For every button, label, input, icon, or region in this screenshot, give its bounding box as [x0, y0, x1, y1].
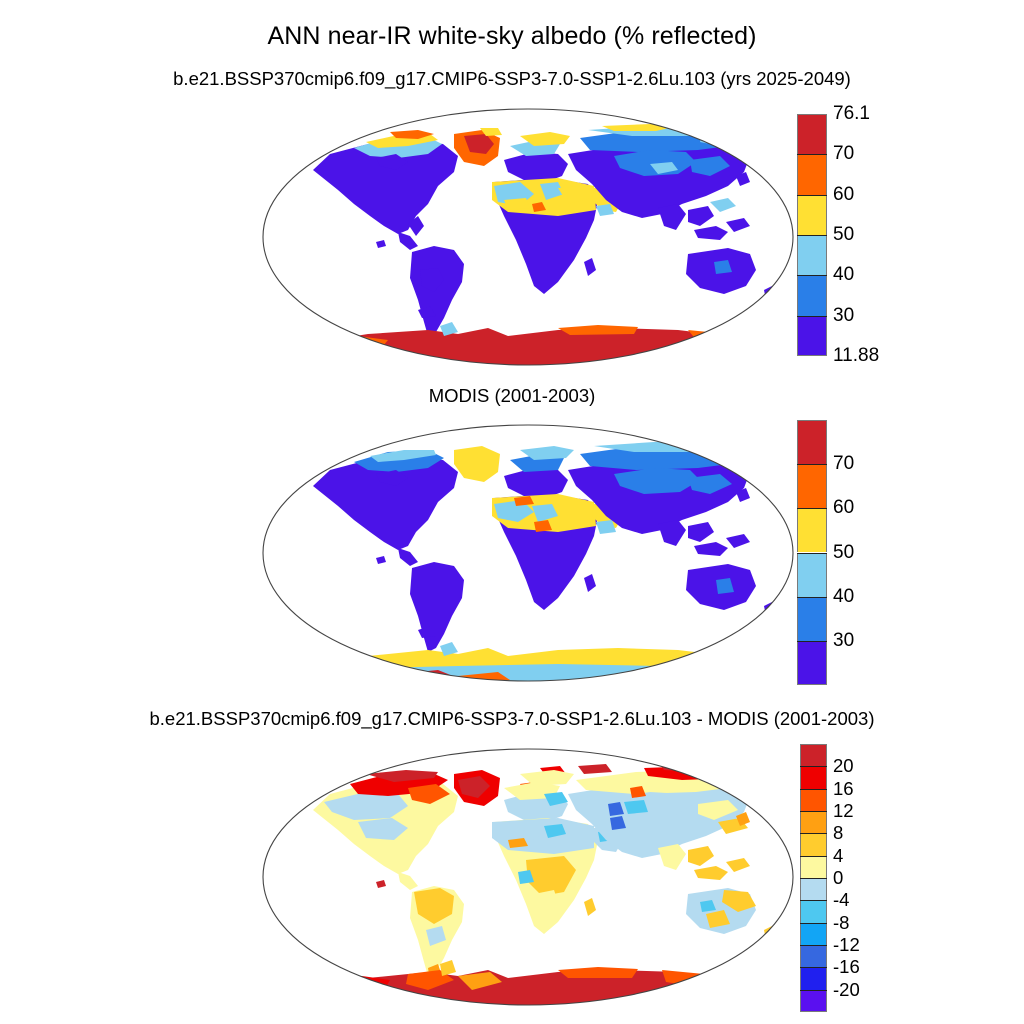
panel-title-3: b.e21.BSSP370cmip6.f09_g17.CMIP6-SSP3-7.… — [0, 708, 1024, 730]
colorbar-label: 4 — [833, 845, 843, 867]
colorbar-tick — [800, 833, 827, 834]
colorbar-label: 60 — [833, 497, 854, 519]
colorbar-tick — [797, 275, 827, 276]
colorbar-tick — [797, 553, 827, 554]
map-panel-1 — [258, 104, 798, 376]
map-panel-2 — [258, 420, 798, 692]
colorbar-label: 8 — [833, 822, 843, 844]
figure-canvas: ANN near-IR white-sky albedo (% reflecte… — [0, 0, 1024, 1024]
colorbar-band — [800, 967, 827, 989]
panel-title-1: b.e21.BSSP370cmip6.f09_g17.CMIP6-SSP3-7.… — [0, 68, 1024, 90]
colorbar-tick — [800, 900, 827, 901]
map-data-layer-1 — [258, 104, 798, 376]
colorbar-tick — [797, 195, 827, 196]
colorbar-band — [800, 744, 827, 766]
colorbar-band — [797, 235, 827, 275]
colorbar-band — [800, 900, 827, 922]
colorbar-tick — [797, 154, 827, 155]
colorbar-label: -8 — [833, 912, 849, 934]
colorbar-tick — [800, 967, 827, 968]
colorbar-label: -4 — [833, 889, 849, 911]
colorbar-label: 70 — [833, 143, 854, 165]
page-title: ANN near-IR white-sky albedo (% reflecte… — [0, 22, 1024, 51]
colorbar-band — [800, 789, 827, 811]
colorbar-tick — [797, 464, 827, 465]
map-panel-3 — [258, 744, 798, 1016]
colorbar-tick — [800, 878, 827, 879]
colorbar-label: 40 — [833, 586, 854, 608]
colorbar-band — [797, 464, 827, 508]
colorbar-band — [797, 508, 827, 552]
colorbar-tick — [800, 945, 827, 946]
colorbar-band — [797, 316, 827, 356]
colorbar-band — [797, 114, 827, 154]
colorbar-band — [800, 923, 827, 945]
colorbar-3: 201612840-4-8-12-16-20 — [800, 744, 827, 1012]
colorbar-band — [800, 856, 827, 878]
colorbar-tick — [797, 235, 827, 236]
colorbar-label: 0 — [833, 867, 843, 889]
colorbar-label: 70 — [833, 453, 854, 475]
colorbar-2: 7060504030 — [797, 420, 827, 685]
colorbar-band — [797, 597, 827, 641]
colorbar-label: -16 — [833, 956, 860, 978]
colorbar-tick — [800, 766, 827, 767]
colorbar-tick — [800, 990, 827, 991]
colorbar-label: 20 — [833, 755, 854, 777]
colorbar-label: 30 — [833, 305, 854, 327]
colorbar-tick — [800, 789, 827, 790]
colorbar-band — [797, 154, 827, 194]
colorbar-band — [800, 990, 827, 1012]
colorbar-label: 50 — [833, 224, 854, 246]
colorbar-band — [797, 195, 827, 235]
colorbar-label: 16 — [833, 778, 854, 800]
colorbar-label: 76.1 — [833, 103, 870, 125]
colorbar-band — [797, 641, 827, 685]
colorbar-band — [800, 878, 827, 900]
colorbar-band — [797, 420, 827, 464]
colorbar-label: 40 — [833, 264, 854, 286]
colorbar-band — [800, 811, 827, 833]
colorbar-band — [800, 833, 827, 855]
colorbar-label: 12 — [833, 800, 854, 822]
colorbar-label: -20 — [833, 979, 860, 1001]
colorbar-band — [800, 766, 827, 788]
colorbar-label: 60 — [833, 184, 854, 206]
colorbar-band — [797, 275, 827, 315]
colorbar-label: -12 — [833, 934, 860, 956]
colorbar-tick — [800, 811, 827, 812]
colorbar-label: 11.88 — [833, 345, 879, 367]
colorbar-band — [797, 553, 827, 597]
colorbar-label: 50 — [833, 542, 854, 564]
map-data-layer-2 — [258, 420, 798, 692]
map-data-layer-3 — [258, 744, 798, 1016]
panel-title-2: MODIS (2001-2003) — [0, 385, 1024, 407]
colorbar-tick — [797, 597, 827, 598]
colorbar-tick — [797, 316, 827, 317]
colorbar-tick — [797, 508, 827, 509]
colorbar-label: 30 — [833, 630, 854, 652]
colorbar-tick — [800, 923, 827, 924]
colorbar-band — [800, 945, 827, 967]
colorbar-tick — [800, 856, 827, 857]
colorbar-tick — [797, 641, 827, 642]
colorbar-1: 76.1706050403011.88 — [797, 114, 827, 356]
